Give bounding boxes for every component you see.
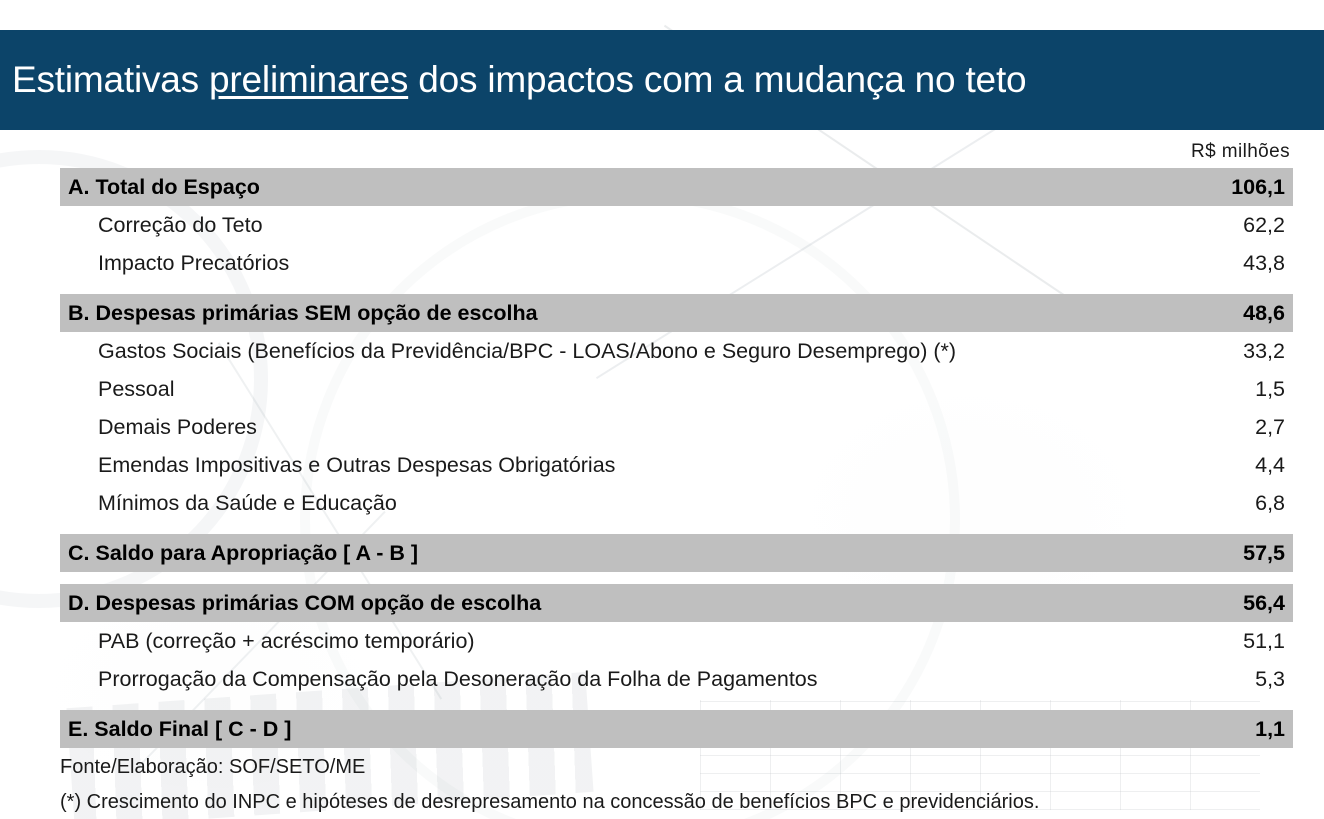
table-row: Emendas Impositivas e Outras Despesas Ob… [60, 446, 1293, 484]
row-label: Prorrogação da Compensação pela Desonera… [60, 660, 1135, 698]
row-label: Demais Poderes [60, 408, 1135, 446]
estimates-table: A. Total do Espaço106,1Correção do Teto6… [60, 168, 1293, 748]
table-row: Correção do Teto62,2 [60, 206, 1293, 244]
slide-title-emphasis: preliminares [209, 59, 408, 100]
row-label: D. Despesas primárias COM opção de escol… [60, 584, 1135, 622]
row-label: Impacto Precatórios [60, 244, 1135, 282]
row-label: Emendas Impositivas e Outras Despesas Ob… [60, 446, 1135, 484]
slide-title-banner: Estimativas preliminares dos impactos co… [0, 30, 1324, 130]
row-value: 6,8 [1135, 484, 1293, 522]
table-row: PAB (correção + acréscimo temporário)51,… [60, 622, 1293, 660]
spacer-cell [60, 522, 1293, 534]
table-row-spacer [60, 282, 1293, 294]
row-label: Gastos Sociais (Benefícios da Previdênci… [60, 332, 1135, 370]
spacer-cell [60, 572, 1293, 584]
row-label: PAB (correção + acréscimo temporário) [60, 622, 1135, 660]
table-row-section: D. Despesas primárias COM opção de escol… [60, 584, 1293, 622]
row-value: 4,4 [1135, 446, 1293, 484]
footnote-source: Fonte/Elaboração: SOF/SETO/ME [60, 748, 1300, 783]
table-row-section: B. Despesas primárias SEM opção de escol… [60, 294, 1293, 332]
row-value: 2,7 [1135, 408, 1293, 446]
row-label: Correção do Teto [60, 206, 1135, 244]
table-row: Prorrogação da Compensação pela Desonera… [60, 660, 1293, 698]
estimates-table-body: A. Total do Espaço106,1Correção do Teto6… [60, 168, 1293, 748]
row-value: 43,8 [1135, 244, 1293, 282]
table-row-spacer [60, 522, 1293, 534]
row-label: Mínimos da Saúde e Educação [60, 484, 1135, 522]
table-row-section: C. Saldo para Apropriação [ A - B ]57,5 [60, 534, 1293, 572]
row-value: 48,6 [1135, 294, 1293, 332]
row-value: 33,2 [1135, 332, 1293, 370]
row-label: B. Despesas primárias SEM opção de escol… [60, 294, 1135, 332]
row-label: C. Saldo para Apropriação [ A - B ] [60, 534, 1135, 572]
table-row: Mínimos da Saúde e Educação6,8 [60, 484, 1293, 522]
row-value: 51,1 [1135, 622, 1293, 660]
table-row-spacer [60, 698, 1293, 710]
table-row-spacer [60, 572, 1293, 584]
table-row: Pessoal1,5 [60, 370, 1293, 408]
row-label: A. Total do Espaço [60, 168, 1135, 206]
table-row: Demais Poderes2,7 [60, 408, 1293, 446]
table-row: Gastos Sociais (Benefícios da Previdênci… [60, 332, 1293, 370]
table-row-section: A. Total do Espaço106,1 [60, 168, 1293, 206]
table-unit-label: R$ milhões [0, 130, 1324, 168]
row-value: 5,3 [1135, 660, 1293, 698]
slide-title-suffix: dos impactos com a mudança no teto [408, 59, 1026, 100]
row-value: 56,4 [1135, 584, 1293, 622]
table-region: R$ milhões A. Total do Espaço106,1Correç… [0, 130, 1324, 818]
row-value: 106,1 [1135, 168, 1293, 206]
row-label: E. Saldo Final [ C - D ] [60, 710, 1135, 748]
row-value: 1,5 [1135, 370, 1293, 408]
spacer-cell [60, 282, 1293, 294]
row-value: 62,2 [1135, 206, 1293, 244]
table-row-section: E. Saldo Final [ C - D ]1,1 [60, 710, 1293, 748]
row-value: 57,5 [1135, 534, 1293, 572]
table-row: Impacto Precatórios43,8 [60, 244, 1293, 282]
spacer-cell [60, 698, 1293, 710]
slide-title-prefix: Estimativas [12, 59, 209, 100]
row-label: Pessoal [60, 370, 1135, 408]
slide-title: Estimativas preliminares dos impactos co… [0, 59, 1026, 101]
row-value: 1,1 [1135, 710, 1293, 748]
footnote-asterisk: (*) Crescimento do INPC e hipóteses de d… [60, 783, 1300, 818]
